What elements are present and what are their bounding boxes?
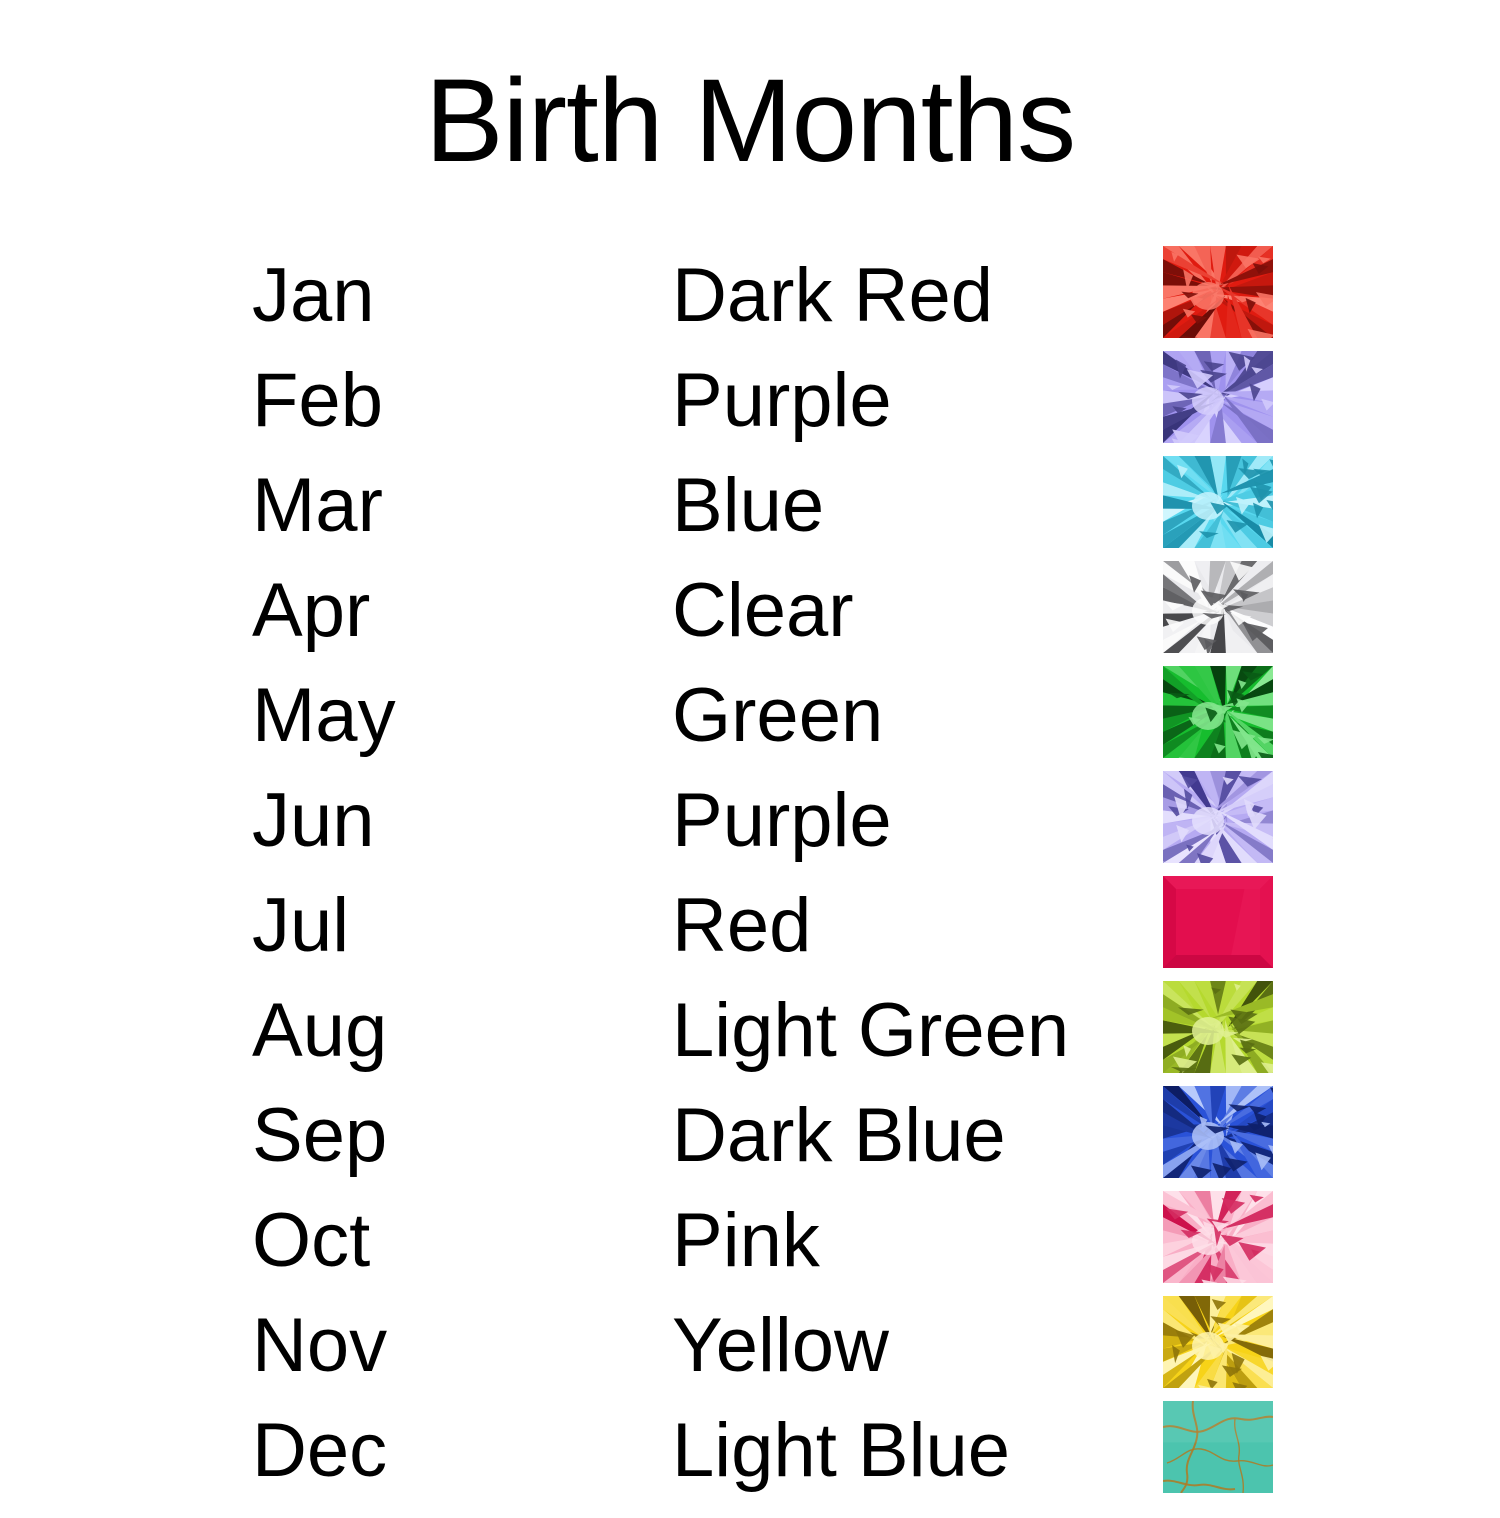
diamond-gem [1163, 561, 1273, 653]
color-name-label: Red [672, 888, 811, 964]
color-name-label: Purple [672, 783, 892, 859]
month-label: Jan [252, 258, 375, 334]
citrine-gem [1163, 1296, 1273, 1388]
month-label: Sep [252, 1098, 387, 1174]
color-name-label: Clear [672, 573, 854, 649]
color-name-label: Light Blue [672, 1413, 1010, 1489]
color-name-label: Dark Red [672, 258, 993, 334]
month-label: Jul [252, 888, 349, 964]
month-label: Feb [252, 363, 383, 439]
birth-months-list: JanDark RedFebPurpleMarBlueAprClearMayGr… [0, 258, 1500, 1518]
aquamarine-gem [1163, 456, 1273, 548]
birth-months-infographic: Birth Months JanDark RedFebPurpleMarBlue… [0, 0, 1500, 1500]
month-label: Nov [252, 1308, 387, 1384]
month-label: Mar [252, 468, 383, 544]
month-label: Dec [252, 1413, 387, 1489]
sapphire-gem [1163, 1086, 1273, 1178]
birth-month-row: NovYellow [0, 1308, 1500, 1413]
emerald-gem [1163, 666, 1273, 758]
color-name-label: Light Green [672, 993, 1069, 1069]
page-title: Birth Months [0, 62, 1500, 180]
birth-month-row: DecLight Blue [0, 1413, 1500, 1518]
birth-month-row: OctPink [0, 1203, 1500, 1308]
color-name-label: Blue [672, 468, 824, 544]
birth-month-row: MarBlue [0, 468, 1500, 573]
color-name-label: Dark Blue [672, 1098, 1006, 1174]
tourmaline-gem [1163, 1191, 1273, 1283]
month-label: Aug [252, 993, 387, 1069]
month-label: Jun [252, 783, 375, 859]
birth-month-row: JulRed [0, 888, 1500, 993]
birth-month-row: JunPurple [0, 783, 1500, 888]
alexandrite-gem [1163, 771, 1273, 863]
peridot-gem [1163, 981, 1273, 1073]
birth-month-row: FebPurple [0, 363, 1500, 468]
color-name-label: Green [672, 678, 883, 754]
month-label: Oct [252, 1203, 370, 1279]
birth-month-row: AprClear [0, 573, 1500, 678]
amethyst-gem [1163, 351, 1273, 443]
color-name-label: Yellow [672, 1308, 889, 1384]
birth-month-row: JanDark Red [0, 258, 1500, 363]
color-name-label: Pink [672, 1203, 820, 1279]
garnet-gem [1163, 246, 1273, 338]
month-label: Apr [252, 573, 370, 649]
birth-month-row: SepDark Blue [0, 1098, 1500, 1203]
birth-month-row: AugLight Green [0, 993, 1500, 1098]
color-name-label: Purple [672, 363, 892, 439]
birth-month-row: MayGreen [0, 678, 1500, 783]
ruby-gem [1163, 876, 1273, 968]
month-label: May [252, 678, 396, 754]
turquoise-gem [1163, 1401, 1273, 1493]
